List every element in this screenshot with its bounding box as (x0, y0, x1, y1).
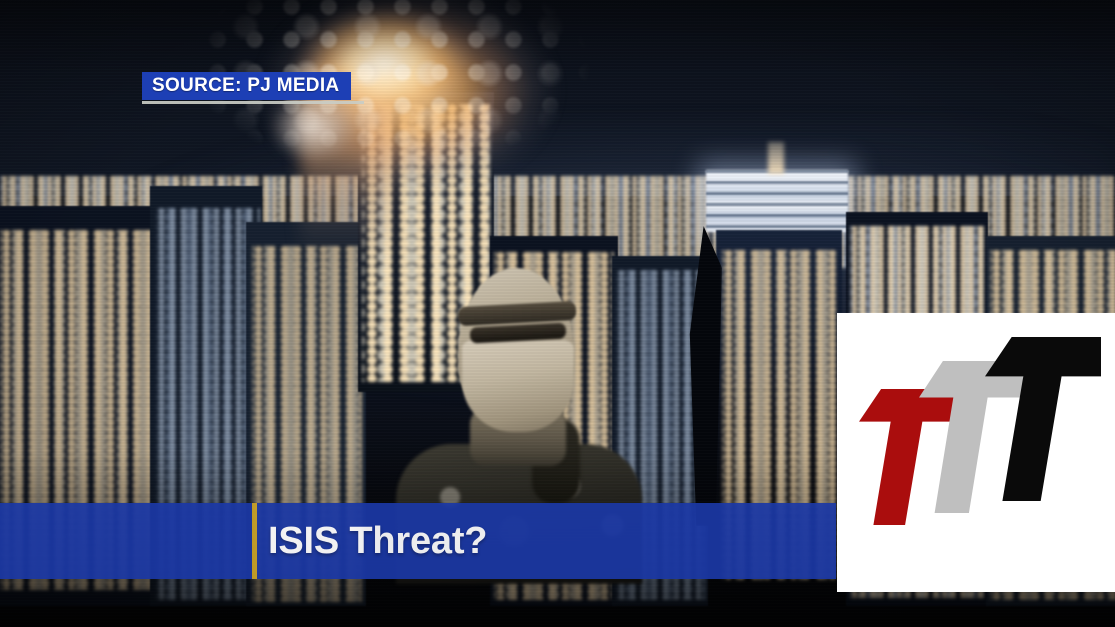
logo-letter-t-black (985, 337, 1101, 501)
lit-tower-crown-striping (706, 170, 848, 232)
broadcast-frame: SOURCE: PJ MEDIA ISIS Threat? (0, 0, 1115, 627)
source-banner-box: SOURCE: PJ MEDIA (142, 72, 351, 100)
lit-tower-mast (768, 142, 784, 174)
lower-third-headline: ISIS Threat? (268, 521, 487, 561)
figure-face-veil (462, 340, 574, 432)
source-banner: SOURCE: PJ MEDIA (142, 72, 364, 104)
lower-third-title-area: ISIS Threat? (257, 521, 836, 561)
source-banner-label: SOURCE: PJ MEDIA (152, 75, 339, 96)
lower-third-left-panel (0, 503, 252, 579)
lower-third-banner: ISIS Threat? (0, 503, 836, 579)
network-logo (837, 313, 1115, 592)
source-banner-underline (142, 101, 364, 104)
